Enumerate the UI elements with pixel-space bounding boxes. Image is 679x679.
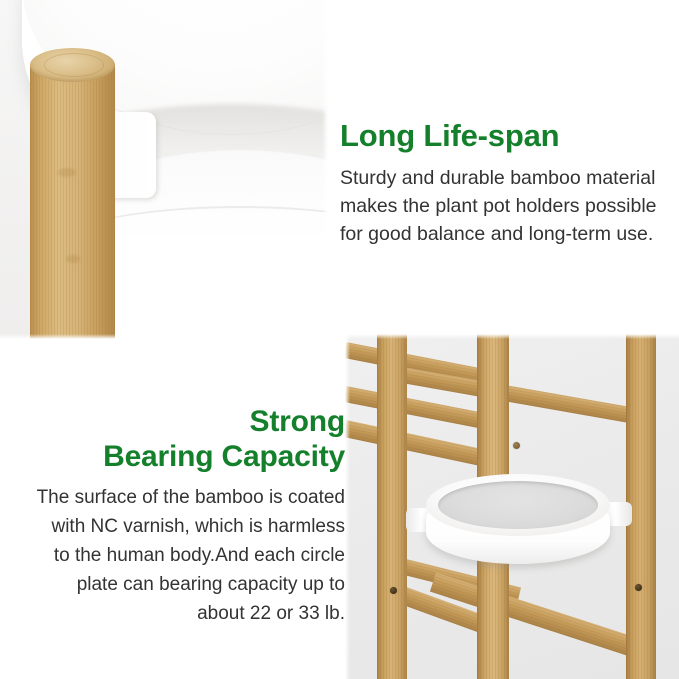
bamboo-post — [30, 62, 115, 339]
feature-body-long-life-span: Sturdy and durable bamboo material makes… — [340, 164, 670, 248]
heading-line: Long Life-span — [340, 118, 670, 154]
body-line: about 22 or 33 lb. — [0, 599, 345, 628]
screw-head-icon — [513, 442, 520, 449]
body-line: for good balance and long-term use. — [340, 220, 670, 248]
feature-body-strong-bearing-capacity: The surface of the bamboo is coated with… — [0, 483, 345, 628]
photo-edge-fade-top — [345, 334, 679, 339]
bamboo-vertical-post — [377, 334, 407, 679]
screw-head-icon — [390, 587, 397, 594]
heading-line: Bearing Capacity — [0, 439, 345, 474]
feature-heading-long-life-span: Long Life-span — [340, 118, 670, 154]
feature-heading-strong-bearing-capacity: Strong Bearing Capacity — [0, 404, 345, 474]
plate-inner-well — [438, 481, 598, 529]
heading-line: Strong — [0, 404, 345, 439]
photo-edge-fade-left — [345, 334, 350, 679]
product-infographic: Long Life-span Sturdy and durable bamboo… — [0, 0, 679, 679]
body-line: with NC varnish, which is harmless — [0, 512, 345, 541]
feature-block-strong-bearing-capacity: Strong Bearing Capacity The surface of t… — [0, 404, 345, 628]
bamboo-grain-knot — [58, 168, 76, 177]
white-circular-plate — [418, 474, 618, 574]
bamboo-post-cap-ring — [44, 53, 104, 77]
body-line: The surface of the bamboo is coated — [0, 483, 345, 512]
feature-block-long-life-span: Long Life-span Sturdy and durable bamboo… — [340, 118, 670, 248]
body-line: makes the plant pot holders possible — [340, 192, 670, 220]
photo-edge-fade-right — [322, 0, 328, 339]
screw-head-icon — [635, 584, 642, 591]
photo-bamboo-post-and-white-tray — [0, 0, 328, 339]
photo-edge-fade-bottom — [0, 334, 328, 339]
body-line: plate can bearing capacity up to — [0, 570, 345, 599]
body-line: to the human body.And each circle — [0, 541, 345, 570]
bamboo-grain-knot — [66, 255, 80, 263]
photo-bamboo-stand-with-white-plate — [345, 334, 679, 679]
body-line: Sturdy and durable bamboo material — [340, 164, 670, 192]
